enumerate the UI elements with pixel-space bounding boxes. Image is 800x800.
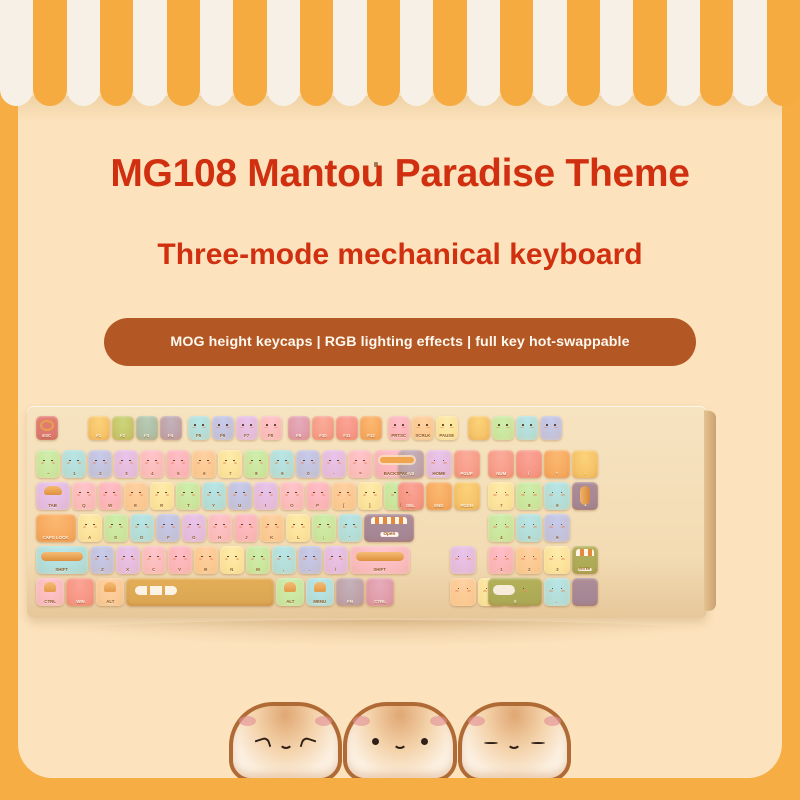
spacebar-buns-icon <box>135 586 177 595</box>
keycap-ctrl[interactable]: CTRL <box>36 578 64 606</box>
keycap-label: F4 <box>168 435 173 439</box>
keycap-menu[interactable]: MENU <box>306 578 334 606</box>
keycap-shift[interactable]: SHIFT <box>36 546 88 574</box>
keycap-f4[interactable]: F4 <box>160 416 182 440</box>
keycap-blank[interactable]: . <box>544 578 570 606</box>
keycap-blank[interactable]: ~ <box>36 450 60 478</box>
keycap-esc[interactable]: ESC <box>36 416 58 440</box>
keycap-label: + <box>584 505 587 509</box>
awning-scallop <box>700 0 733 106</box>
awning-scallop <box>733 0 766 106</box>
mouth-smile <box>393 740 407 749</box>
keycap-9[interactable]: 9 <box>544 482 570 510</box>
keycap-label: 4 <box>151 473 153 477</box>
awning-scallop <box>367 0 400 106</box>
keycap-prtsc[interactable]: PRTSC <box>388 416 410 440</box>
mantou-right <box>458 702 571 778</box>
keycap-label: 9 <box>556 505 558 509</box>
keycap-blank[interactable]: - <box>572 450 598 478</box>
keycap-label: 0 <box>307 473 309 477</box>
baguette-icon <box>41 552 83 561</box>
keycap-5[interactable]: 5 <box>516 514 542 542</box>
keycap-label: H <box>218 537 221 541</box>
mantou-left <box>229 702 342 778</box>
key-rgb-glow <box>540 416 562 440</box>
baguette-icon <box>580 486 590 505</box>
keycap-blank[interactable]: / <box>324 546 348 574</box>
keycap-label: F11 <box>343 435 350 439</box>
key-rgb-glow <box>492 416 514 440</box>
key-cluster-main: ~1234567890-=BACKSPACE <box>36 450 420 478</box>
keycap-8[interactable]: 8 <box>516 482 542 510</box>
keycap-label: FN <box>347 601 353 605</box>
keycap-l[interactable]: L <box>286 514 310 542</box>
keycap-c[interactable]: C <box>142 546 166 574</box>
keycap-blank[interactable] <box>540 416 562 440</box>
blush-left <box>353 716 370 726</box>
keycap-pause[interactable]: PAUSE <box>436 416 458 440</box>
keycap-7[interactable]: 7 <box>488 482 514 510</box>
keycap-alt[interactable]: ALT <box>96 578 124 606</box>
keycap-label: C <box>152 569 155 573</box>
eye-left-dot <box>372 738 379 745</box>
keycap-label: SHIFT <box>374 569 387 573</box>
keyboard-image: ESCF1F2F3F4F5F6F7F8F9F10F11F12PRTSCSCRLK… <box>27 406 721 638</box>
key-rgb-glow <box>468 416 490 440</box>
keycap-k[interactable]: K <box>260 514 284 542</box>
keycap-label: F12 <box>367 435 375 439</box>
keycap-ctrl[interactable]: CTRL <box>366 578 394 606</box>
keycap-y[interactable]: Y <box>202 482 226 510</box>
sandwich-icon <box>493 585 515 595</box>
keycap-win[interactable]: WIN <box>66 578 94 606</box>
awning-scallop <box>333 0 366 106</box>
key-cluster-f1-f4: F1F2F3F4 <box>88 416 182 440</box>
keycap-fn[interactable]: FN <box>336 578 364 606</box>
keycap-u[interactable]: U <box>228 482 252 510</box>
awning-scallop <box>667 0 700 106</box>
key-cluster-main: SHIFTZXCVBNM,./SHIFT <box>36 546 410 574</box>
keycap-a[interactable]: A <box>78 514 102 542</box>
awning-scallop <box>100 0 133 106</box>
keycap-blank[interactable]: ; <box>312 514 336 542</box>
blush-right <box>315 716 332 726</box>
keycap-label: CTRL <box>374 601 386 605</box>
keycap-o[interactable]: O <box>280 482 304 510</box>
keycap-label: F6 <box>220 435 225 439</box>
eye-left-line <box>484 742 498 744</box>
keycap-6[interactable]: 6 <box>192 450 216 478</box>
awning-scallop <box>0 0 33 106</box>
keycap-blank[interactable]: = <box>348 450 372 478</box>
key-cluster-numpad-top <box>468 416 562 440</box>
keycap-label: F10 <box>319 435 327 439</box>
keycap-blank[interactable]: ' <box>338 514 362 542</box>
key-cluster-escape: ESC <box>36 416 58 440</box>
keycap-blank[interactable] <box>468 416 490 440</box>
awning-scallop <box>533 0 566 106</box>
blush-left <box>468 716 485 726</box>
keyboard-shadow <box>41 620 719 646</box>
keycap-pgup[interactable]: PGUP <box>454 450 480 478</box>
keycap-r[interactable]: R <box>150 482 174 510</box>
mascot-row <box>229 692 571 778</box>
keycap-2[interactable]: 2 <box>516 546 542 574</box>
keycap-2[interactable]: 2 <box>88 450 112 478</box>
keycap-label: K <box>270 537 273 541</box>
shop-awning-icon <box>576 549 595 556</box>
keycap-f2[interactable]: F2 <box>112 416 134 440</box>
mascot-face <box>233 736 338 764</box>
keycap-label: ENTER <box>579 568 592 571</box>
keycap-label: F7 <box>244 435 249 439</box>
key-cluster-numpad-row2: 789+ <box>488 482 598 510</box>
keycap-scrlk[interactable]: SCRLK <box>412 416 434 440</box>
mascot-face <box>462 736 567 764</box>
keycap-label: Q <box>82 505 85 509</box>
keycap-alt[interactable]: ALT <box>276 578 304 606</box>
keycap-3[interactable]: 3 <box>544 546 570 574</box>
keycap-label: F1 <box>96 435 101 439</box>
keycap-label: M <box>256 569 260 573</box>
keycap-label: END <box>434 505 443 509</box>
keycap-label: Open <box>380 532 398 537</box>
keycap-t[interactable]: T <box>176 482 200 510</box>
keycap-f6[interactable]: F6 <box>212 416 234 440</box>
keycap-label: 1 <box>73 473 75 477</box>
key-cluster-f9-f12: F9F10F11F12 <box>288 416 382 440</box>
keycap-n[interactable]: N <box>220 546 244 574</box>
keycap-num[interactable]: NUM <box>488 450 514 478</box>
awning-scallop <box>267 0 300 106</box>
key-cluster-nav-upper: INSHOMEPGUP <box>398 450 480 478</box>
awning-scallop <box>433 0 466 106</box>
keycap-5[interactable]: 5 <box>166 450 190 478</box>
keycap-label: G <box>192 537 195 541</box>
keycap-shift[interactable]: SHIFT <box>350 546 410 574</box>
keycap-f3[interactable]: F3 <box>136 416 158 440</box>
keycap-s[interactable]: S <box>104 514 128 542</box>
keycap-f8[interactable]: F8 <box>260 416 282 440</box>
keycap-label: 5 <box>177 473 179 477</box>
keycap-label: 2 <box>528 569 530 573</box>
keycap-blank[interactable]: * <box>544 450 570 478</box>
croissant-icon <box>44 486 62 495</box>
feature-banner-text: MOG height keycaps | RGB lighting effect… <box>170 334 629 350</box>
awning-scallop <box>167 0 200 106</box>
keycap-del[interactable]: DEL <box>398 482 424 510</box>
keycap-pgdn[interactable]: PGDN <box>454 482 480 510</box>
keycap-blank[interactable]: [ <box>332 482 356 510</box>
keycap-blank[interactable] <box>126 578 274 606</box>
awning-scallop <box>600 0 633 106</box>
keycap-0[interactable]: 0 <box>296 450 320 478</box>
key-cluster-main: CTRLWINALTALTMENUFNCTRL <box>36 578 394 606</box>
key-cluster-numpad-row4: 123ENTER <box>488 546 598 574</box>
keycap-label: * <box>556 473 558 477</box>
keycap-f[interactable]: F <box>156 514 180 542</box>
keycap-label: F <box>167 537 170 541</box>
keycap-blank[interactable] <box>450 578 476 606</box>
keyboard-plate: ESCF1F2F3F4F5F6F7F8F9F10F11F12PRTSCSCRLK… <box>36 416 698 610</box>
keycap-label: INS <box>407 473 414 477</box>
key-cluster-numpad-row5: 0. <box>488 578 598 606</box>
keycap-z[interactable]: Z <box>90 546 114 574</box>
toast-slice-icon <box>284 582 296 592</box>
keycap-label: 4 <box>500 537 502 541</box>
keycap-label: 1 <box>500 569 502 573</box>
eye-right-dot <box>421 738 428 745</box>
keycap-label: ALT <box>286 601 294 605</box>
keycap-blank[interactable] <box>516 416 538 440</box>
toast-slice-icon <box>44 582 56 592</box>
awning-scallop <box>133 0 166 106</box>
keycap-label: R <box>160 505 163 509</box>
mouth-smile <box>279 740 293 749</box>
keycap-label: W <box>108 505 112 509</box>
keycap-label: = <box>359 473 362 477</box>
keycap-label: 0 <box>514 601 516 605</box>
key-cluster-main: CAPS LOCKASDFGHJKL;'Open <box>36 514 414 542</box>
keycap-label: O <box>290 505 293 509</box>
keycap-label: CTRL <box>44 601 56 605</box>
toast-slice-icon <box>314 582 326 592</box>
poster-root: MG108 Mantou Paradise Theme Three-mode m… <box>0 0 800 800</box>
keycap-label: CAPS LOCK <box>43 537 69 541</box>
awning-stripes <box>0 0 800 112</box>
page-title: MG108 Mantou Paradise Theme <box>18 152 782 196</box>
keycap-6[interactable]: 6 <box>544 514 570 542</box>
keycap-q[interactable]: Q <box>72 482 96 510</box>
keycap-9[interactable]: 9 <box>270 450 294 478</box>
keycap-blank[interactable]: ] <box>358 482 382 510</box>
keycap-f11[interactable]: F11 <box>336 416 358 440</box>
awning-scallop <box>467 0 500 106</box>
feature-banner: MOG height keycaps | RGB lighting effect… <box>104 318 696 366</box>
keycap-blank[interactable]: - <box>322 450 346 478</box>
mantou-center <box>343 702 456 778</box>
keycap-label: ESC <box>43 435 52 439</box>
mouth-smile <box>507 740 521 749</box>
awning-scallop <box>767 0 800 106</box>
keycap-label: HOME <box>432 473 445 477</box>
keycap-label: 6 <box>203 473 205 477</box>
bakery-shop-icon <box>371 517 407 524</box>
keycap-b[interactable]: B <box>194 546 218 574</box>
keycap-w[interactable]: W <box>98 482 122 510</box>
keycap-label: TAB <box>49 505 58 509</box>
keycap-1[interactable]: 1 <box>62 450 86 478</box>
keycap-4[interactable]: 4 <box>140 450 164 478</box>
keycap-label: PGDN <box>461 505 474 509</box>
keycap-label: U <box>238 505 241 509</box>
keycap-label: NUM <box>496 473 506 477</box>
keycap-h[interactable]: H <box>208 514 232 542</box>
keycap-label: 6 <box>556 537 558 541</box>
awning-scallop <box>33 0 66 106</box>
awning-scallop <box>633 0 666 106</box>
keycap-label: DEL <box>407 505 416 509</box>
keycap-label: 7 <box>500 505 502 509</box>
keycap-label: F5 <box>196 435 201 439</box>
keycap-label: 5 <box>528 537 530 541</box>
awning-scallop <box>300 0 333 106</box>
toast-slice-icon <box>104 582 116 592</box>
keycap-label: 8 <box>528 505 530 509</box>
keycap-label: N <box>230 569 233 573</box>
key-cluster-main: TABQWERTYUIOP[]\ <box>36 482 418 510</box>
keyboard-right-bevel <box>704 410 716 611</box>
keycap-label: F8 <box>268 435 273 439</box>
keycap-label: A <box>88 537 91 541</box>
keycap-enter[interactable]: ENTER <box>572 546 598 574</box>
keycap-label: J <box>245 537 247 541</box>
baguette-icon <box>356 552 404 561</box>
keycap-label: 8 <box>255 473 257 477</box>
keycap-label: B <box>204 569 207 573</box>
awning-scallop <box>67 0 100 106</box>
keycap-tab[interactable]: TAB <box>36 482 70 510</box>
keycap-label: D <box>140 537 143 541</box>
keycap-f5[interactable]: F5 <box>188 416 210 440</box>
keycap-f12[interactable]: F12 <box>360 416 382 440</box>
keycap-label: ALT <box>106 601 114 605</box>
keycap-blank[interactable]: . <box>298 546 322 574</box>
keycap-0[interactable]: 0 <box>488 578 542 606</box>
keycap-label: ~ <box>47 473 50 477</box>
awning-scallop <box>233 0 266 106</box>
keycap-f7[interactable]: F7 <box>236 416 258 440</box>
keycap-blank[interactable]: , <box>272 546 296 574</box>
keycap-label: 3 <box>556 569 558 573</box>
key-cluster-numpad-row1: NUM/*- <box>488 450 598 478</box>
keycap-label: F2 <box>120 435 125 439</box>
keycap-label: 2 <box>99 473 101 477</box>
blush-right <box>544 716 561 726</box>
keycap-label: Z <box>101 569 104 573</box>
content-panel: MG108 Mantou Paradise Theme Three-mode m… <box>18 30 782 778</box>
keycap-i[interactable]: I <box>254 482 278 510</box>
keycap-caps-lock[interactable]: CAPS LOCK <box>36 514 76 542</box>
keycap-j[interactable]: J <box>234 514 258 542</box>
blush-right <box>430 716 447 726</box>
mascot-face <box>347 736 452 764</box>
keycap-label: PAUSE <box>440 435 455 439</box>
eye-right-line <box>531 742 545 744</box>
keycap-d[interactable]: D <box>130 514 154 542</box>
keycap-label: WIN <box>76 601 84 605</box>
keycap-open[interactable]: Open <box>364 514 414 542</box>
keycap-label: 7 <box>229 473 231 477</box>
rolling-pin-icon <box>380 457 415 463</box>
keycap-label: T <box>187 505 190 509</box>
awning-scallop <box>200 0 233 106</box>
keycap-x[interactable]: X <box>116 546 140 574</box>
keycap-home[interactable]: HOME <box>426 450 452 478</box>
keycap-label: PGUP <box>461 473 473 477</box>
keycap-label: PRTSC <box>392 435 407 439</box>
key-cluster-numpad-row3: 456 <box>488 514 570 542</box>
eye-right-squint <box>300 736 317 751</box>
keycap-f1[interactable]: F1 <box>88 416 110 440</box>
keycap-7[interactable]: 7 <box>218 450 242 478</box>
key-cluster-arrow-up <box>450 546 476 574</box>
key-cluster-nav-lower: DELENDPGDN <box>398 482 480 510</box>
keycap-3[interactable]: 3 <box>114 450 138 478</box>
keycap-label: 9 <box>281 473 283 477</box>
blush-left <box>239 716 256 726</box>
keycap-4[interactable]: 4 <box>488 514 514 542</box>
keycap-label: SHIFT <box>56 569 69 573</box>
keycap-p[interactable]: P <box>306 482 330 510</box>
keycap-v[interactable]: V <box>168 546 192 574</box>
keycap-1[interactable]: 1 <box>488 546 514 574</box>
keycap-8[interactable]: 8 <box>244 450 268 478</box>
keycap-e[interactable]: E <box>124 482 148 510</box>
keycap-label: MENU <box>314 601 327 605</box>
awning-scallop <box>400 0 433 106</box>
eye-left-squint <box>255 736 272 751</box>
keycap-blank[interactable] <box>492 416 514 440</box>
page-subtitle: Three-mode mechanical keyboard <box>18 238 782 272</box>
key-rgb-glow <box>450 578 476 606</box>
keycap-blank[interactable]: / <box>516 450 542 478</box>
key-cluster-f5-f8: F5F6F7F8 <box>188 416 282 440</box>
keycap-blank[interactable]: + <box>572 482 598 510</box>
keyboard-case: ESCF1F2F3F4F5F6F7F8F9F10F11F12PRTSCSCRLK… <box>27 406 707 618</box>
keycap-f9[interactable]: F9 <box>288 416 310 440</box>
keycap-label: F3 <box>144 435 149 439</box>
keycap-blank[interactable] <box>450 546 476 574</box>
key-rgb-glow <box>572 578 598 606</box>
keycap-g[interactable]: G <box>182 514 206 542</box>
key-rgb-glow <box>516 416 538 440</box>
keycap-label: SCRLK <box>415 435 430 439</box>
key-cluster-sys-cluster: PRTSCSCRLKPAUSE <box>388 416 458 440</box>
awning-scallop <box>567 0 600 106</box>
keycap-m[interactable]: M <box>246 546 270 574</box>
keycap-label: L <box>297 537 300 541</box>
keycap-label: 3 <box>125 473 127 477</box>
keycap-end[interactable]: END <box>426 482 452 510</box>
keycap-f10[interactable]: F10 <box>312 416 334 440</box>
keycap-label: F9 <box>296 435 301 439</box>
key-rgb-glow <box>450 546 476 574</box>
awning-scallop <box>500 0 533 106</box>
keycap-blank[interactable] <box>572 578 598 606</box>
